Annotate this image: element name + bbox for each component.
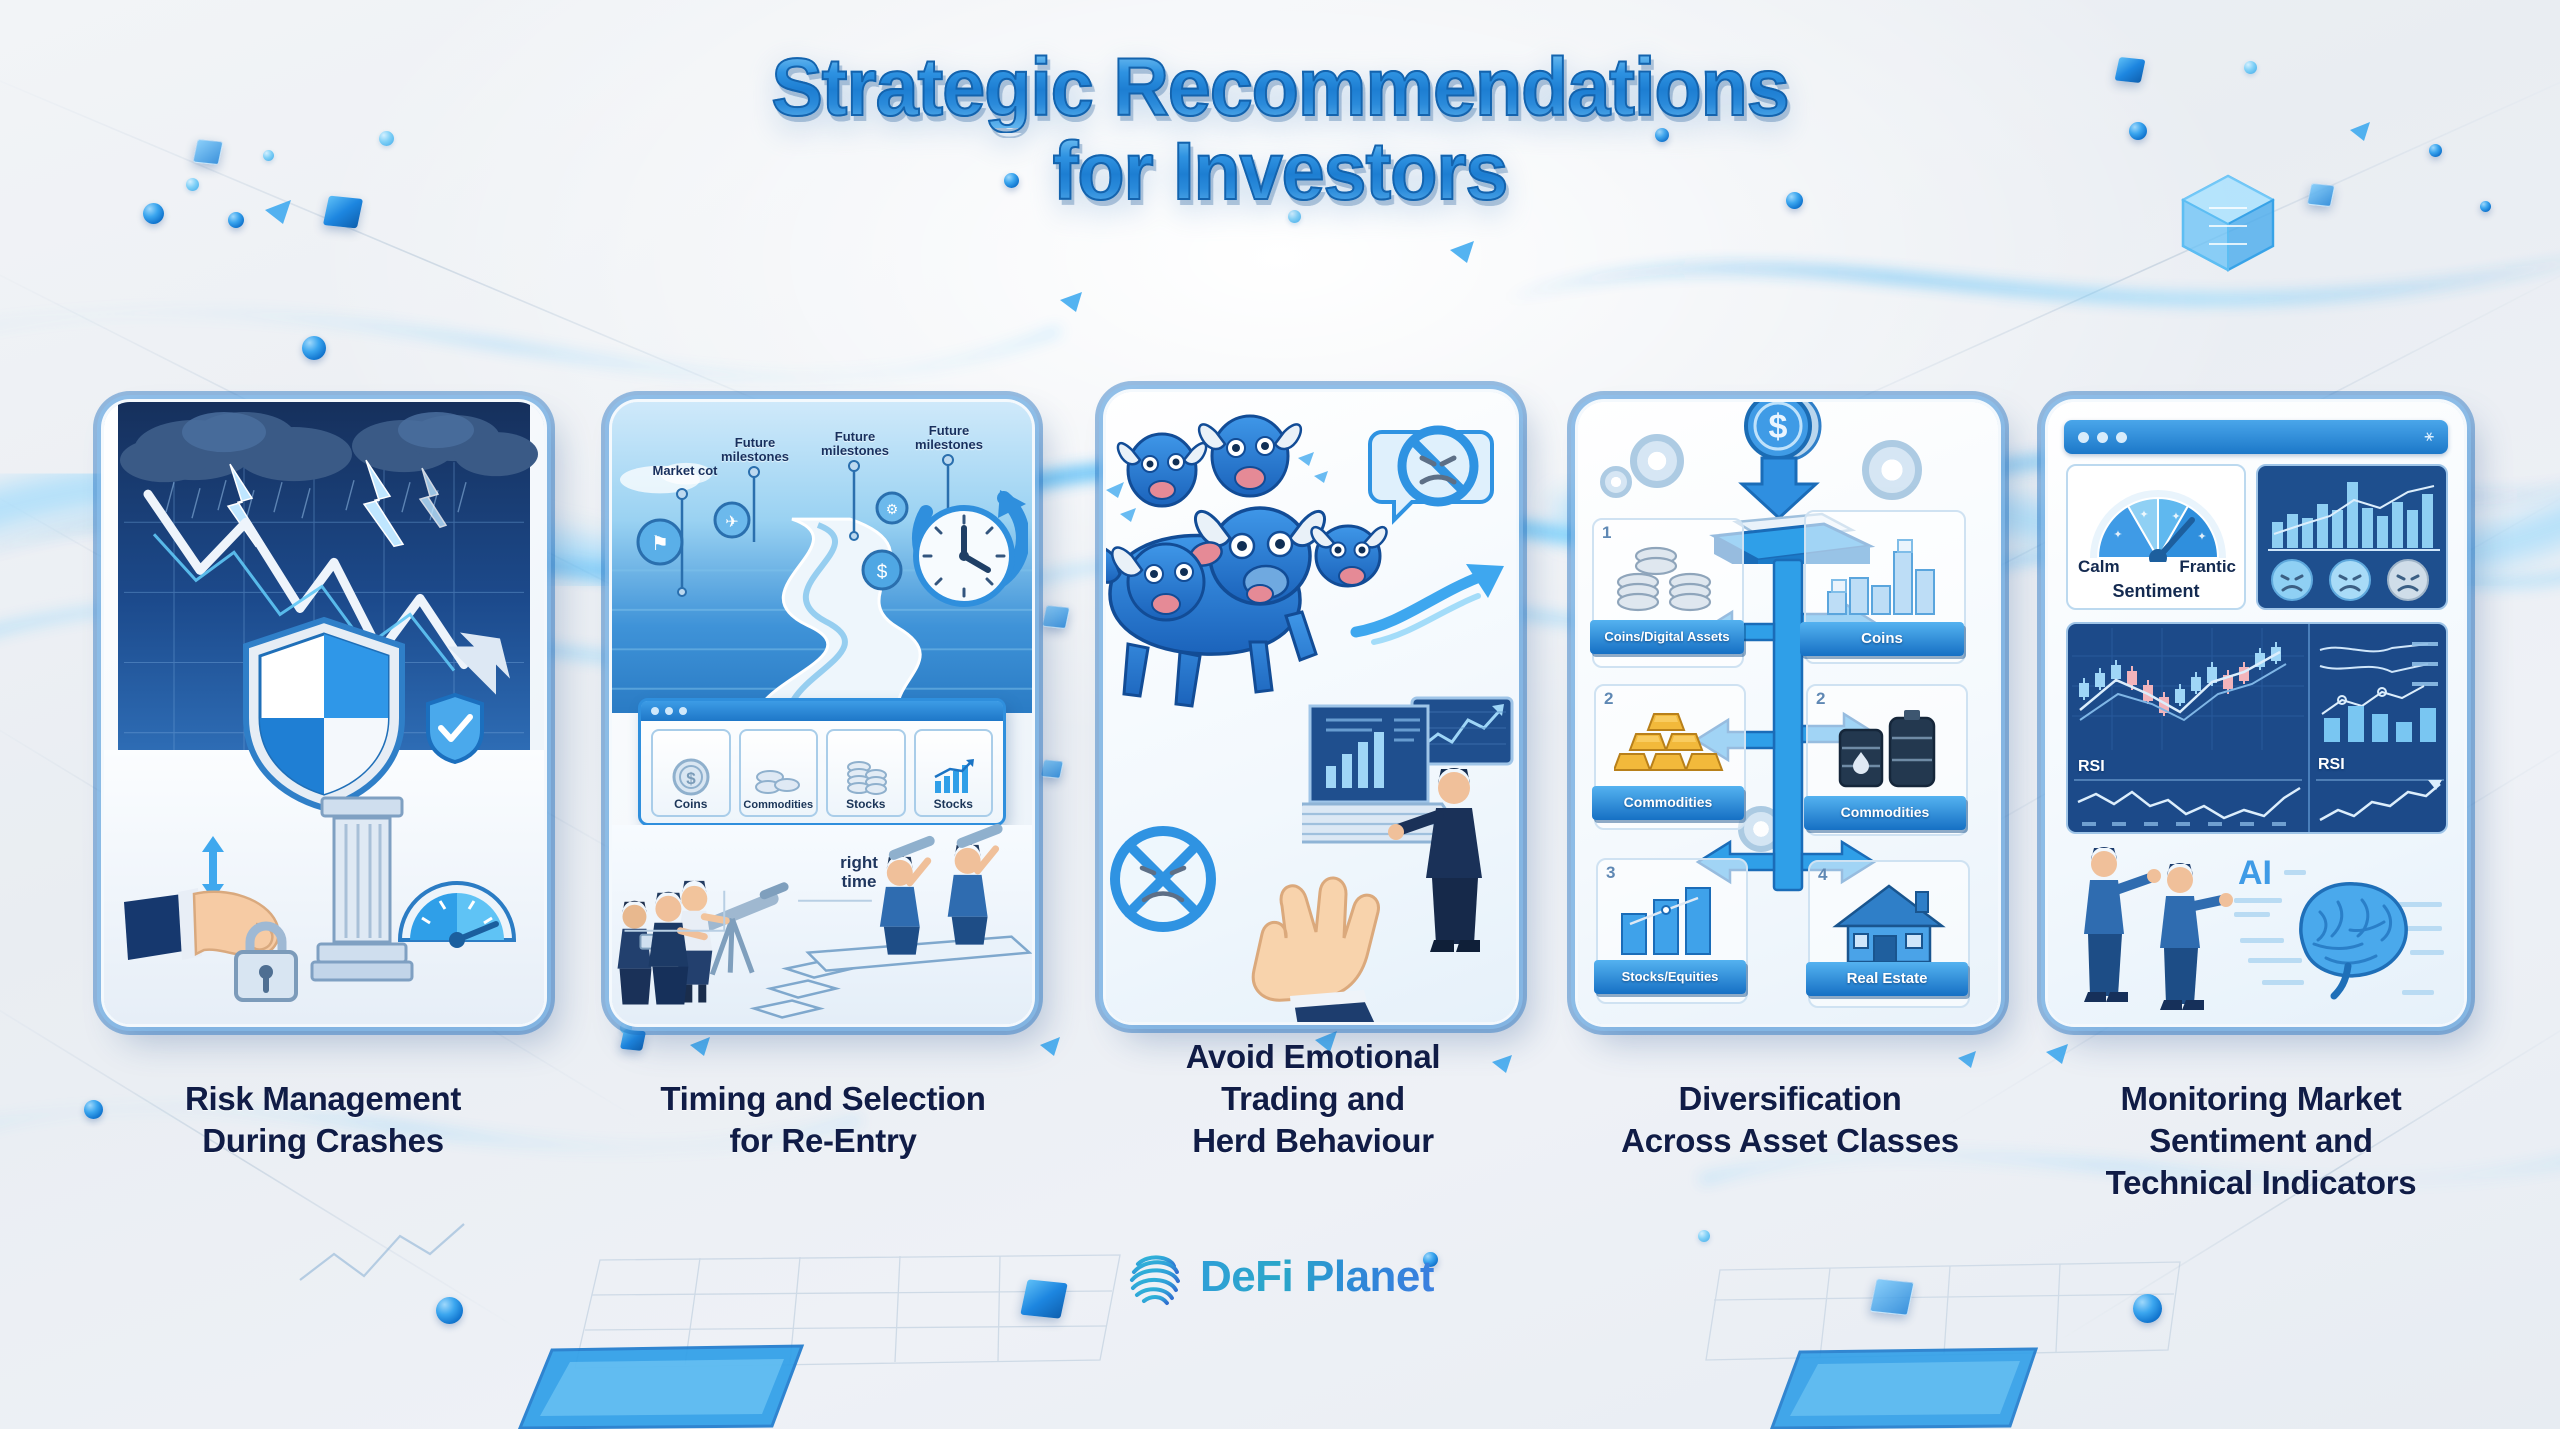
- rsi-line-chart: [2074, 776, 2302, 828]
- decor-floor-plate: [512, 1340, 812, 1429]
- window-dot: [2078, 432, 2089, 443]
- asset-block-label: Stocks/Equities: [1622, 970, 1719, 984]
- brand-name: DeFi Planet: [1200, 1252, 1434, 1302]
- title-line-2: for Investors: [77, 132, 2483, 212]
- indicator-label-rsi: RSI: [2078, 758, 2105, 776]
- asset-block-group-left: 1 Coins/Digital Assets 2: [1592, 518, 1752, 1008]
- title-line-1: Strategic Recommendations: [77, 48, 2483, 128]
- asset-block-label: Commodities: [1841, 805, 1930, 820]
- panel-avoid-emotional-trading[interactable]: [1106, 392, 1516, 1022]
- panel-diversification[interactable]: $: [1578, 402, 1998, 1024]
- risk-gauge: [392, 862, 522, 952]
- decor-cube: [1869, 1278, 1914, 1315]
- asset-block-number: 2: [1816, 690, 1825, 709]
- svg-text:$: $: [877, 562, 888, 583]
- ai-brain-icon: [2301, 884, 2406, 996]
- coin-stack-icon: [754, 763, 802, 799]
- stampeding-bull-group: [1106, 404, 1400, 734]
- asset-card[interactable]: Stocks: [914, 729, 994, 817]
- asset-block-number: 1: [1602, 524, 1611, 543]
- sparkline-decoration: [300, 1224, 464, 1280]
- decor-sphere: [2133, 1294, 2162, 1323]
- svg-text:✦: ✦: [2113, 529, 2122, 541]
- sentiment-gauge-card: ✦✦✦✦ Calm Frantic Sentiment: [2066, 464, 2246, 610]
- infographic-canvas: Strategic Recommendations for Investors: [0, 0, 2560, 1429]
- sad-face-icon: [2270, 558, 2314, 602]
- silver-coin-stack-icon: [1616, 540, 1724, 618]
- brand-logo[interactable]: DeFi Planet: [1126, 1248, 1434, 1306]
- dollar-coin-icon: $: [671, 757, 711, 797]
- indicator-label-rsi: RSI: [2318, 756, 2345, 774]
- sad-face-prohibition-icon: [1106, 818, 1224, 940]
- caption-avoid-emotional-trading: Avoid Emotional Trading and Herd Behavio…: [1094, 1036, 1532, 1163]
- asset-block[interactable]: Coins: [1800, 622, 1964, 656]
- user-icon: ⚹: [2424, 428, 2434, 446]
- decor-cube: [1040, 759, 1064, 779]
- asset-card[interactable]: $ Coins: [651, 729, 731, 817]
- gauge-label-left: Calm: [2078, 558, 2120, 577]
- ai-analysis-scene: AI: [2062, 840, 2452, 1016]
- bar-chart-icon: [1824, 534, 1946, 616]
- stampeding-bull-icon: [1118, 434, 1206, 506]
- caption-monitoring-sentiment: Monitoring Market Sentiment and Technica…: [2036, 1078, 2486, 1205]
- asset-card-window: $ Coins Commodities: [638, 698, 1006, 826]
- asset-card-label: Commodities: [743, 799, 813, 811]
- asset-card[interactable]: Stocks: [826, 729, 906, 817]
- svg-text:✦: ✦: [2197, 531, 2206, 543]
- observers-scene: [612, 813, 1032, 1024]
- decor-sphere: [302, 336, 326, 360]
- sentiment-gauge-icon: ✦✦✦✦: [2084, 474, 2232, 562]
- clock-icon: [904, 490, 1028, 614]
- panel-monitoring-sentiment[interactable]: ⚹ ✦✦✦✦ Calm Frantic Senti: [2048, 402, 2464, 1024]
- gauge-label-right: Frantic: [2179, 558, 2236, 577]
- asset-block-group-right: Coins 2 Commodities: [1804, 510, 1972, 1010]
- globe-swirl-icon: [1126, 1248, 1184, 1306]
- svg-text:⚙: ⚙: [886, 501, 899, 517]
- asset-card-label: Stocks: [846, 797, 885, 811]
- asset-block-label: Commodities: [1624, 795, 1713, 810]
- secondary-indicators: [2316, 630, 2444, 748]
- angry-face-prohibition-icon: [1368, 412, 1496, 536]
- window-dot: [2116, 432, 2127, 443]
- candlestick-chart: [2072, 628, 2304, 750]
- decor-cube: [1042, 605, 1071, 629]
- coin-pile-icon: [843, 757, 889, 797]
- caption-risk-management: Risk Management During Crashes: [78, 1078, 568, 1162]
- rising-bar-chart-icon: [930, 757, 976, 797]
- bar-chart-panel: [2268, 474, 2440, 552]
- asset-card[interactable]: Commodities: [739, 729, 819, 817]
- milestone-pin-icon: ⚑ ✈ ⚙ $: [638, 493, 907, 589]
- panel-risk-management[interactable]: [104, 402, 544, 1024]
- panel-timing-selection[interactable]: Market cot Future milestones Future mile…: [612, 402, 1032, 1024]
- gold-bars-icon: [1614, 708, 1728, 784]
- asset-block[interactable]: Stocks/Equities: [1594, 960, 1746, 994]
- sad-face-icon: [2386, 558, 2430, 602]
- sentiment-bar-card: [2256, 464, 2448, 610]
- decor-cube: [1020, 1279, 1067, 1318]
- analyst-figure: [2084, 847, 2161, 1002]
- svg-text:✦: ✦: [2139, 509, 2148, 521]
- page-title: Strategic Recommendations for Investors: [0, 48, 2560, 213]
- stampeding-bull-icon: [1199, 416, 1301, 496]
- asset-card-label: Stocks: [934, 797, 973, 811]
- window-dot: [2097, 432, 2108, 443]
- svg-text:✈: ✈: [725, 514, 738, 531]
- shield-check-icon: [424, 692, 486, 764]
- caption-timing-selection: Timing and Selection for Re-Entry: [598, 1078, 1048, 1162]
- asset-block[interactable]: Coins/Digital Assets: [1590, 620, 1744, 654]
- bar-chart-icon: [1616, 880, 1724, 956]
- decor-cube: [620, 1029, 646, 1051]
- asset-block-number: 4: [1818, 866, 1827, 885]
- padlock-icon: [228, 914, 304, 1006]
- asset-block-label: Coins/Digital Assets: [1604, 630, 1729, 644]
- decor-sphere: [1698, 1230, 1710, 1242]
- asset-block-number: 2: [1604, 690, 1613, 709]
- analyst-figure: [2160, 863, 2233, 1010]
- decor-floor-plate: [1766, 1344, 2046, 1429]
- caption-diversification: Diversification Across Asset Classes: [1560, 1078, 2020, 1162]
- asset-card-label: Coins: [674, 797, 707, 811]
- asset-block-number: 3: [1606, 864, 1615, 883]
- trader-workstation: [1302, 688, 1516, 966]
- asset-block-label: Coins: [1861, 631, 1903, 648]
- right-time-annotation: right time: [824, 854, 894, 891]
- house-icon: [1830, 882, 1948, 964]
- decor-sphere: [228, 212, 244, 228]
- gauge-title: Sentiment: [2068, 582, 2244, 602]
- browser-window-chrome[interactable]: ⚹: [2064, 420, 2448, 454]
- svg-text:⚑: ⚑: [651, 533, 669, 555]
- decor-sphere: [436, 1297, 463, 1324]
- ai-tag: AI: [2238, 854, 2272, 892]
- asset-block-label: Real Estate: [1847, 971, 1928, 988]
- shield-icon: [238, 614, 410, 814]
- asset-block[interactable]: Real Estate: [1806, 962, 1968, 996]
- sad-face-icon: [2328, 558, 2372, 602]
- rsi-trend-chart: [2316, 774, 2444, 828]
- asset-block[interactable]: Commodities: [1804, 796, 1966, 830]
- asset-block[interactable]: Commodities: [1592, 786, 1744, 820]
- technical-dashboard: RSI: [2066, 622, 2448, 834]
- svg-text:$: $: [686, 769, 696, 788]
- oil-barrel-icon: [1832, 708, 1944, 790]
- svg-text:✦: ✦: [2171, 511, 2180, 523]
